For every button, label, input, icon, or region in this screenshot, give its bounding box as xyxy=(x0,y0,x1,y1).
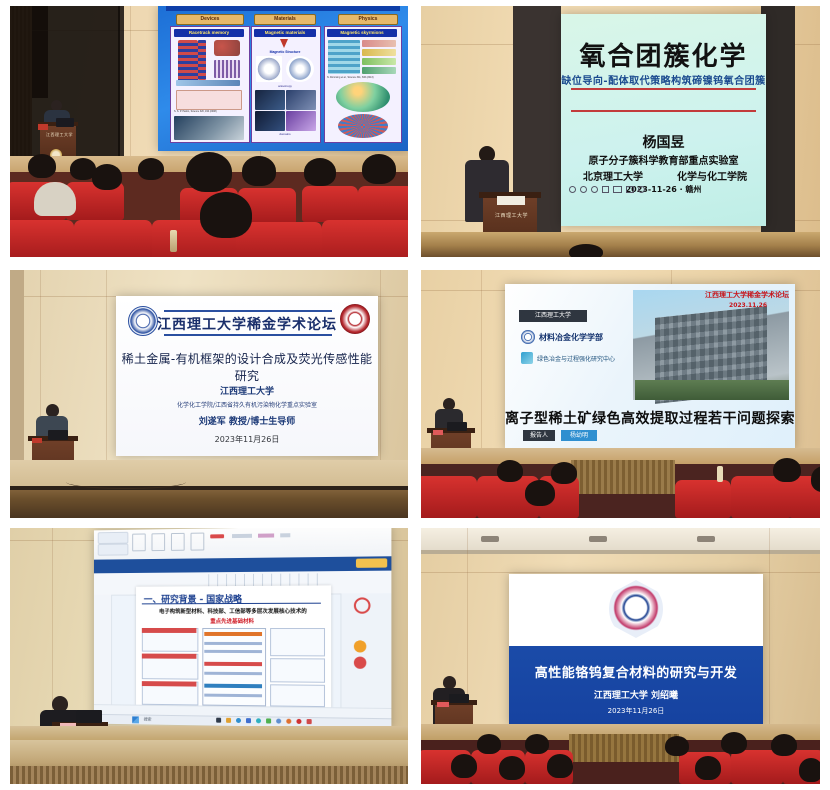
slide1-citation-physics: N. Romming et al., Science 341, 636 (201… xyxy=(327,76,397,80)
slide3-presenter: 刘遂军 教授/博士生导师 xyxy=(116,414,378,427)
slide6-date: 2023年11月26日 xyxy=(509,706,763,716)
slide2-affiliation-university: 北京理工大学 xyxy=(583,168,643,183)
slide1-caption-domains: domains xyxy=(254,132,316,136)
slide3-department: 化学化工学院/江西省持久有机污染物化学重点实验室 xyxy=(116,400,378,409)
menu-icon xyxy=(626,186,634,193)
taskbar-icon-6[interactable] xyxy=(266,718,271,723)
center-logo-icon xyxy=(521,352,533,364)
slide5-taskbar-search-placeholder[interactable]: 搜索 xyxy=(144,717,152,723)
slide4-speaker-name: 杨幼明 xyxy=(561,430,597,441)
photo-4: 江西理工大学稀金学术论坛 2023.11.26 江西理工大学 材料冶金化学学部 … xyxy=(421,270,820,518)
slide2-subtitle: 缺位导向-配体取代策略构筑碲镍钨氧合团簇 xyxy=(561,72,766,87)
laptop-6 xyxy=(449,694,469,703)
slide5-subheading: 电子构筑新型材料、科技部、工信部等多层次发展核心技术的 xyxy=(146,607,321,615)
slide3-banner: 江西理工大学稀金学术论坛 xyxy=(116,314,378,334)
slide3-date: 2023年11月26日 xyxy=(116,434,378,445)
slide1-citation-devices: S. S. P. Parkin, Science 320, 190 (2008) xyxy=(174,110,244,114)
slide4-forum-date: 2023.11.26 xyxy=(729,302,767,309)
slide2-title: 氧合团簇化学 xyxy=(561,36,766,73)
laptop-1 xyxy=(56,118,74,127)
slide2-affiliation-lab: 原子分子簇科学教育部重点实验室 xyxy=(561,152,766,167)
slide1-caption-anisotropy: anisotropy xyxy=(254,84,316,88)
slide1-column-subheader-racetrack: Racetrack memory xyxy=(174,29,244,37)
slide1-column-header-devices: Devices xyxy=(176,14,244,25)
slide1-middle-label: Magnetic Structure xyxy=(254,50,316,54)
photo-5: 一、研究背景 - 国家战略 电子构筑新型材料、科技部、工信部等多层次发展核心技术… xyxy=(10,528,408,784)
slide1-column-subheader-magnetic-materials: Magnetic materials xyxy=(254,29,316,37)
slide4-speaker-label: 报告人 xyxy=(523,430,555,441)
slide1-column-header-materials: Materials xyxy=(254,14,316,25)
highlighter-icon xyxy=(591,186,598,193)
podium-logo-1: 江西理工大学 xyxy=(46,132,73,138)
slide4-school-logo-text: 材料冶金化学学部 xyxy=(539,332,603,343)
photo-6: 高性能铬钨复合材料的研究与开发 江西理工大学 刘绍曦 2023年11月26日 xyxy=(421,528,820,784)
laptop-4 xyxy=(447,422,467,431)
slide3-org: 江西理工大学 xyxy=(116,384,378,397)
slide2-presenter: 杨国昱 xyxy=(561,132,766,152)
slide4-center-logo-text: 绿色冶金与过程强化研究中心 xyxy=(537,354,615,363)
projection-screen-4: 江西理工大学稀金学术论坛 2023.11.26 江西理工大学 材料冶金化学学部 … xyxy=(505,284,795,450)
taskbar-icon-3[interactable] xyxy=(236,718,241,723)
screen-icon xyxy=(613,186,622,193)
projection-screen-3: 江西理工大学稀金学术论坛 稀土金属-有机框架的设计合成及荧光传感性能研究 江西理… xyxy=(116,296,378,456)
photo-collage: Devices Racetrack memory S. S. P. Parkin… xyxy=(0,0,830,790)
projection-screen-2: 氧合团簇化学 缺位导向-配体取代策略构筑碲镍钨氧合团簇 杨国昱 原子分子簇科学教… xyxy=(561,14,766,226)
photo-1: Devices Racetrack memory S. S. P. Parkin… xyxy=(10,6,408,257)
school-logo-icon xyxy=(521,330,535,344)
slide6-title: 高性能铬钨复合材料的研究与开发 xyxy=(509,662,763,681)
projection-screen-1: Devices Racetrack memory S. S. P. Parkin… xyxy=(158,6,408,151)
photo-3: 江西理工大学稀金学术论坛 稀土金属-有机框架的设计合成及荧光传感性能研究 江西理… xyxy=(10,270,408,518)
laptop-5 xyxy=(76,710,102,723)
pointer-icon xyxy=(580,186,587,193)
pen-icon xyxy=(569,186,576,193)
more-icon xyxy=(638,186,645,193)
photo-2: 氧合团簇化学 缺位导向-配体取代策略构筑碲镍钨氧合团簇 杨国昱 原子分子簇科学教… xyxy=(421,6,820,257)
slide4-title: 离子型稀土矿绿色高效提取过程若干问题探索 xyxy=(505,408,795,428)
slide5-highlight-line: 重点先进基础材料 xyxy=(146,617,321,625)
slide2-affiliation-school: 化学与化工学院 xyxy=(677,168,747,183)
slide5-document-page: 一、研究背景 - 国家战略 电子构筑新型材料、科技部、工信部等多层次发展核心技术… xyxy=(136,585,331,709)
taskbar-icon-2[interactable] xyxy=(226,718,231,723)
taskbar-icon-5[interactable] xyxy=(256,718,261,723)
expand-icon xyxy=(602,186,609,193)
slide1-column-subheader-skyrmions: Magnetic skyrmions xyxy=(327,29,397,37)
slide3-title: 稀土金属-有机框架的设计合成及荧光传感性能研究 xyxy=(116,350,378,384)
taskbar-icon-7[interactable] xyxy=(276,719,281,724)
taskbar-icon-1[interactable] xyxy=(216,718,221,723)
taskbar-icon-8[interactable] xyxy=(286,719,291,724)
slide4-university-tag: 江西理工大学 xyxy=(519,310,587,322)
slide1-column-header-physics: Physics xyxy=(338,14,398,25)
podium-logo-2: 江西理工大学 xyxy=(495,212,528,219)
slide4-forum-banner: 江西理工大学稀金学术论坛 xyxy=(705,290,789,300)
projection-screen-6: 高性能铬钨复合材料的研究与开发 江西理工大学 刘绍曦 2023年11月26日 xyxy=(509,574,763,726)
taskbar-icon-4[interactable] xyxy=(246,718,251,723)
projection-screen-5: 一、研究背景 - 国家战略 电子构筑新型材料、科技部、工信部等多层次发展核心技术… xyxy=(94,528,391,729)
taskbar-icon-9[interactable] xyxy=(296,719,301,724)
laptop-3 xyxy=(48,430,68,440)
slide6-org-presenter: 江西理工大学 刘绍曦 xyxy=(509,688,763,701)
taskbar-icon-10[interactable] xyxy=(307,719,312,724)
